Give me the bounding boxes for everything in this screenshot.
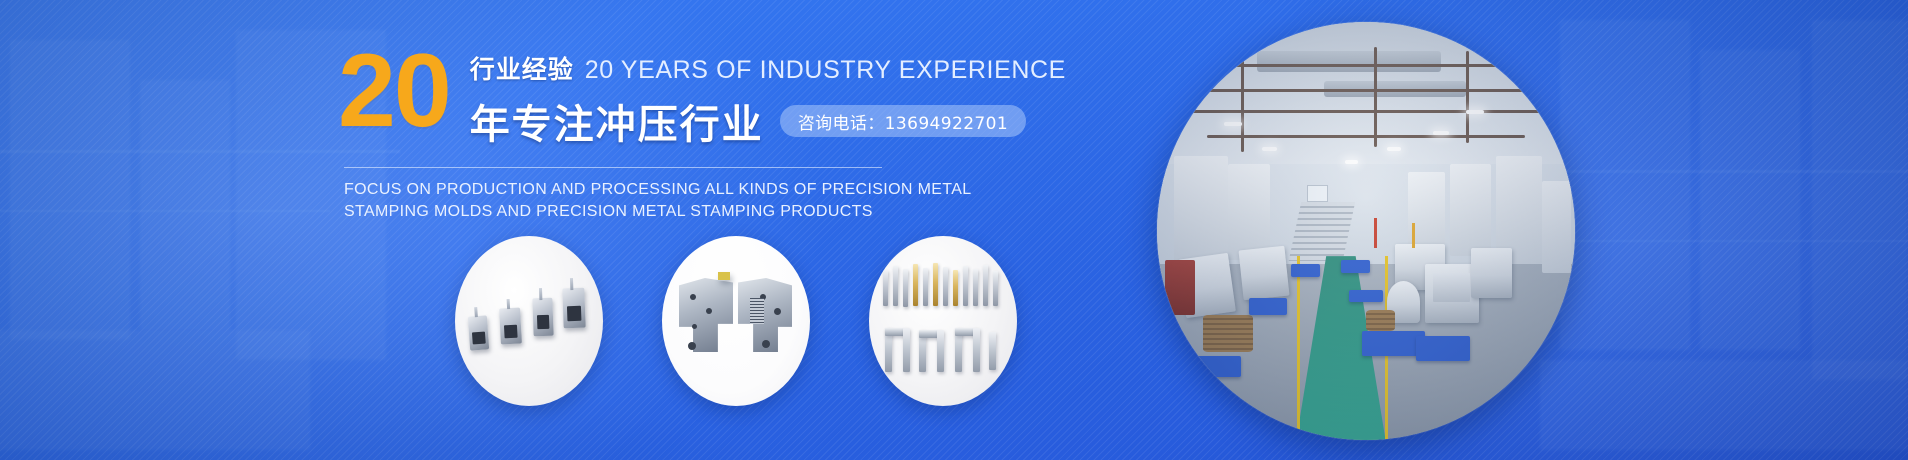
subtitle-text: FOCUS ON PRODUCTION AND PROCESSING ALL K… (344, 179, 984, 222)
product-showcase (455, 236, 1017, 406)
product-circle-stamping-die[interactable] (662, 236, 810, 406)
headline-cn-large: 年专注冲压行业 (470, 92, 764, 150)
factory-workshop-photo[interactable] (1157, 22, 1575, 440)
product-circle-terminals[interactable] (869, 236, 1017, 406)
promo-banner: 20 行业经验 20 YEARS OF INDUSTRY EXPERIENCE … (0, 0, 1908, 460)
headline-en-small: 20 YEARS OF INDUSTRY EXPERIENCE (585, 56, 1066, 85)
headline-block: 20 行业经验 20 YEARS OF INDUSTRY EXPERIENCE … (338, 34, 1038, 222)
years-number: 20 (338, 44, 450, 140)
headline-cn-small: 行业经验 (470, 50, 574, 86)
divider-rule (344, 167, 882, 168)
product-circle-connectors[interactable] (455, 236, 603, 406)
phone-badge[interactable]: 咨询电话：13694922701 (780, 105, 1026, 137)
